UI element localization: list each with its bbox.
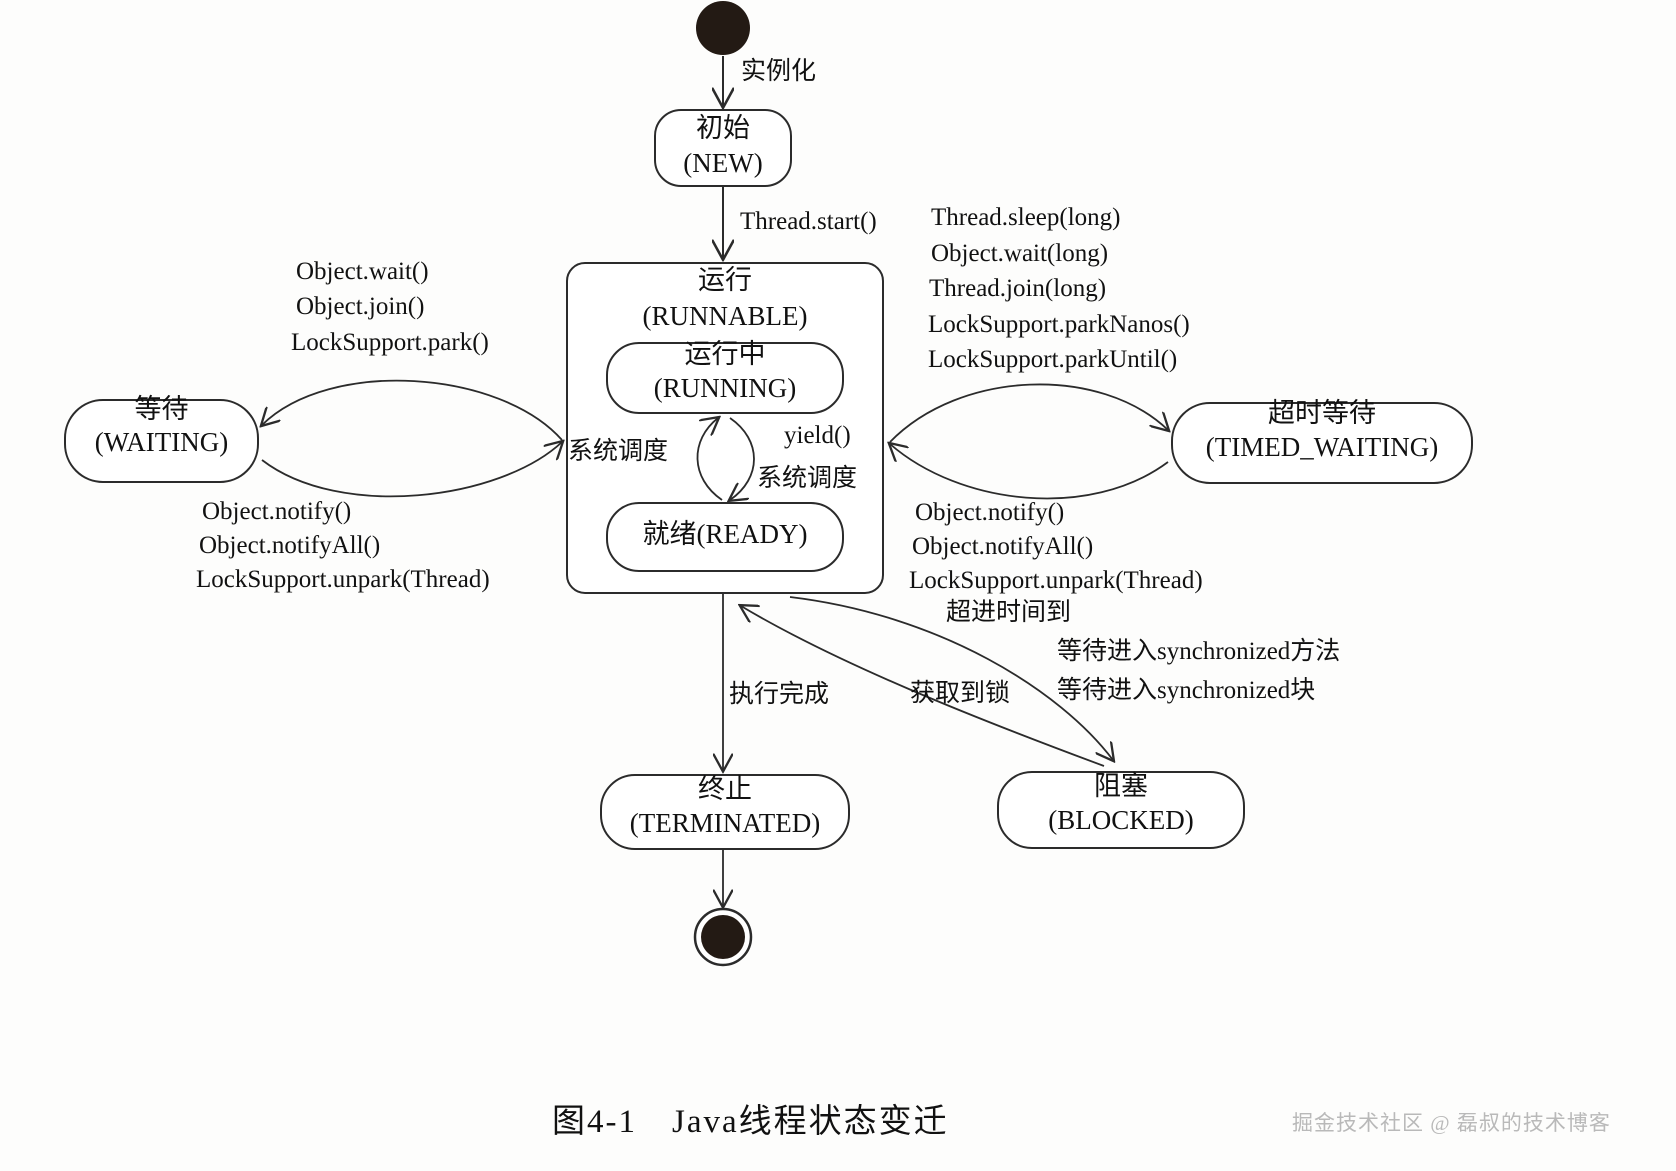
state-timed-waiting-label-cn: 超时等待 xyxy=(1172,398,1472,430)
state-ready-label: 就绪(READY) xyxy=(607,519,843,551)
watermark-text: 掘金技术社区 @ 磊叔的技术博客 xyxy=(1292,1107,1611,1137)
edge-label-from-timed-line1: Object.notify() xyxy=(915,498,1064,528)
edge-label-to-timed-line2: Object.wait(long) xyxy=(931,239,1108,269)
state-timed-waiting-label-en: (TIMED_WAITING) xyxy=(1172,432,1472,464)
state-waiting-label-en: (WAITING) xyxy=(65,427,258,459)
edge-label-to-waiting-line2: Object.join() xyxy=(296,292,424,322)
edge-timed-waiting-to-runnable xyxy=(890,444,1168,498)
initial-state-node xyxy=(696,1,750,55)
edge-label-acquire-lock: 获取到锁 xyxy=(910,679,1010,709)
state-running-label-en: (RUNNING) xyxy=(607,373,843,405)
edge-label-instantiate: 实例化 xyxy=(741,57,816,87)
edge-label-to-timed-line3: Thread.join(long) xyxy=(929,274,1106,304)
edge-label-thread-start: Thread.start() xyxy=(740,207,877,237)
edge-label-from-waiting-line3: LockSupport.unpark(Thread) xyxy=(196,565,490,595)
final-state-node xyxy=(701,915,745,959)
state-runnable-label-en: (RUNNABLE) xyxy=(567,301,883,333)
edge-label-to-blocked-line2: 等待进入synchronized块 xyxy=(1057,676,1315,706)
state-waiting-label-cn: 等待 xyxy=(65,394,258,426)
edge-label-to-timed-line4: LockSupport.parkNanos() xyxy=(928,310,1190,340)
edge-runnable-to-waiting xyxy=(262,381,562,440)
edge-waiting-to-runnable xyxy=(262,442,562,496)
edge-label-from-timed-line4: 超进时间到 xyxy=(946,598,1071,628)
state-running-label-cn: 运行中 xyxy=(607,339,843,371)
edge-label-execute-done: 执行完成 xyxy=(729,680,829,710)
state-blocked-label-cn: 阻塞 xyxy=(998,771,1244,803)
figure-caption: 图4-1 Java线程状态变迁 xyxy=(552,1094,949,1142)
state-terminated-label-en: (TERMINATED) xyxy=(601,808,849,840)
state-terminated-label-cn: 终止 xyxy=(601,774,849,806)
edge-label-to-blocked-line1: 等待进入synchronized方法 xyxy=(1057,637,1340,667)
edge-label-to-waiting-line3: LockSupport.park() xyxy=(291,328,489,358)
edge-label-from-waiting-line2: Object.notifyAll() xyxy=(199,531,380,561)
edge-label-to-timed-line5: LockSupport.parkUntil() xyxy=(928,345,1177,375)
state-blocked-label-en: (BLOCKED) xyxy=(998,805,1244,837)
edge-label-from-waiting-line1: Object.notify() xyxy=(202,497,351,527)
edge-label-yield: yield() xyxy=(784,421,851,451)
edge-label-to-timed-line1: Thread.sleep(long) xyxy=(931,203,1121,233)
edge-label-from-timed-line3: LockSupport.unpark(Thread) xyxy=(909,566,1203,596)
thread-state-diagram-page: 实例化 初始 (NEW) Thread.start() 运行 (RUNNABLE… xyxy=(0,0,1676,1171)
edge-label-sys-schedule-right: 系统调度 xyxy=(757,464,857,494)
edge-label-sys-schedule-left: 系统调度 xyxy=(568,437,668,467)
state-new-label-cn: 初始 xyxy=(655,113,791,145)
edge-runnable-to-timed-waiting xyxy=(890,384,1168,442)
edge-label-to-waiting-line1: Object.wait() xyxy=(296,257,429,287)
state-new-label-en: (NEW) xyxy=(655,148,791,180)
state-runnable-label-cn: 运行 xyxy=(567,265,883,297)
edge-label-from-timed-line2: Object.notifyAll() xyxy=(912,532,1093,562)
